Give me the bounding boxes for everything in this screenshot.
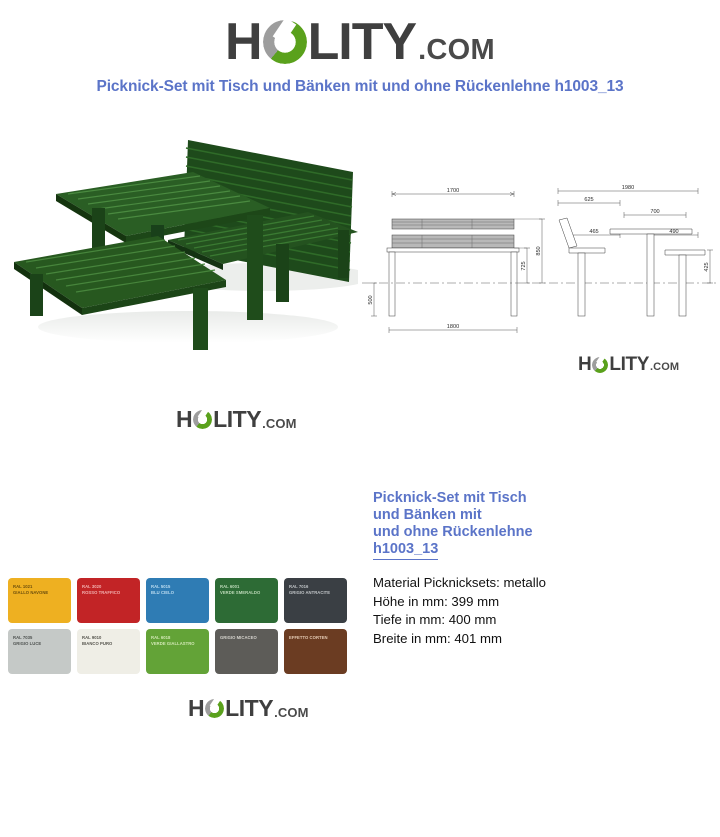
product-specs: Material Picknicksets: metallo Höhe in m… <box>373 574 703 648</box>
spec-width: Breite in mm: 401 mm <box>373 630 703 649</box>
color-swatch[interactable]: RAL 5015BLU CIELO <box>146 578 209 623</box>
color-swatch[interactable]: RAL 7035GRIGIO LUCE <box>8 629 71 674</box>
watermark-logo-drawing: H LITY .COM <box>578 355 679 375</box>
dim-1800: 1800 <box>447 324 459 330</box>
swatch-name: GRIGIO ANTRACITE <box>289 590 344 596</box>
dim-1700: 1700 <box>447 188 459 194</box>
holity-swirl-o-icon <box>205 699 224 718</box>
swatch-name: VERDE GIALLASTRO <box>151 641 206 647</box>
swatch-name: BLU CIELO <box>151 590 206 596</box>
technical-drawing: 1700 1800 1980 625 700 465 490 500 725 8… <box>362 178 718 343</box>
product-info-title: Picknick-Set mit Tisch und Bänken mit un… <box>373 490 703 560</box>
logo-dotcom: .COM <box>650 362 679 373</box>
product-info-panel: Picknick-Set mit Tisch und Bänken mit un… <box>373 490 703 648</box>
dim-500: 500 <box>368 295 374 304</box>
holity-swirl-o-icon <box>592 357 608 373</box>
logo-letter-h: H <box>188 697 204 720</box>
holity-logo[interactable]: H LITY .COM <box>225 16 495 68</box>
dim-465: 465 <box>589 229 598 235</box>
logo-dotcom: .COM <box>418 36 495 65</box>
swatch-name: BIANCO PURO <box>82 641 137 647</box>
dim-490: 490 <box>669 229 678 235</box>
swatch-name: ROSSO TRAFFICO <box>82 590 137 596</box>
spec-depth: Tiefe in mm: 400 mm <box>373 611 703 630</box>
product-photo <box>8 112 358 360</box>
logo-letters-lity: LITY <box>225 697 273 720</box>
picnic-set-illustration <box>8 112 358 360</box>
swatch-row-2: RAL 7035GRIGIO LUCE RAL 9010BIANCO PURO … <box>8 629 353 674</box>
color-swatch[interactable]: RAL 9010BIANCO PURO <box>77 629 140 674</box>
swatch-name: GIALLO NAVONE <box>13 590 68 596</box>
dim-1980: 1980 <box>622 185 634 191</box>
spec-height: Höhe in mm: 399 mm <box>373 593 703 612</box>
header-logo[interactable]: H LITY .COM <box>0 16 720 68</box>
product-sheet-page: H LITY .COM Picknick-Set mit Tisch und B… <box>0 0 720 837</box>
logo-letter-h: H <box>578 355 591 374</box>
logo-letters-lity: LITY <box>213 408 261 431</box>
spec-material: Material Picknicksets: metallo <box>373 574 703 593</box>
info-title-line-1: Picknick-Set mit Tisch <box>373 490 703 507</box>
color-swatch[interactable]: RAL 3020ROSSO TRAFFICO <box>77 578 140 623</box>
page-title: Picknick-Set mit Tisch und Bänken mit un… <box>0 78 720 96</box>
swatch-row-1: RAL 1021GIALLO NAVONE RAL 3020ROSSO TRAF… <box>8 578 353 623</box>
swatch-name: GRIGIO LUCE <box>13 641 68 647</box>
watermark-logo-photo: H LITY .COM <box>176 408 297 432</box>
swatch-name: GRIGIO MICACEO <box>220 635 275 641</box>
product-code-link[interactable]: h1003_13 <box>373 541 438 560</box>
logo-dotcom: .COM <box>274 706 308 719</box>
logo-letters-lity: LITY <box>609 355 649 374</box>
dim-625: 625 <box>584 197 593 203</box>
logo-letter-h: H <box>225 16 262 68</box>
color-swatch[interactable]: RAL 7016GRIGIO ANTRACITE <box>284 578 347 623</box>
dim-850: 850 <box>536 246 542 255</box>
logo-dotcom: .COM <box>262 417 296 430</box>
color-swatch[interactable]: RAL 6018VERDE GIALLASTRO <box>146 629 209 674</box>
color-swatch[interactable]: EFFETTO CORTEN <box>284 629 347 674</box>
holity-swirl-o-icon <box>193 410 212 429</box>
logo-letter-h: H <box>176 408 192 431</box>
swatch-name: VERDE SMERALDO <box>220 590 275 596</box>
color-swatch[interactable]: RAL 6001VERDE SMERALDO <box>215 578 278 623</box>
color-swatch-grid: RAL 1021GIALLO NAVONE RAL 3020ROSSO TRAF… <box>8 578 353 680</box>
color-swatch[interactable]: RAL 1021GIALLO NAVONE <box>8 578 71 623</box>
logo-letters-lity: LITY <box>308 16 417 68</box>
info-title-line-2: und Bänken mit <box>373 507 703 524</box>
footer-logo[interactable]: H LITY .COM <box>188 697 309 721</box>
dim-725: 725 <box>521 261 527 270</box>
info-title-line-3: und ohne Rückenlehne <box>373 524 703 541</box>
holity-swirl-o-icon <box>263 20 307 64</box>
color-swatch[interactable]: GRIGIO MICACEO <box>215 629 278 674</box>
dim-425: 425 <box>704 262 710 271</box>
dim-700: 700 <box>650 209 659 215</box>
swatch-name: EFFETTO CORTEN <box>289 635 344 641</box>
